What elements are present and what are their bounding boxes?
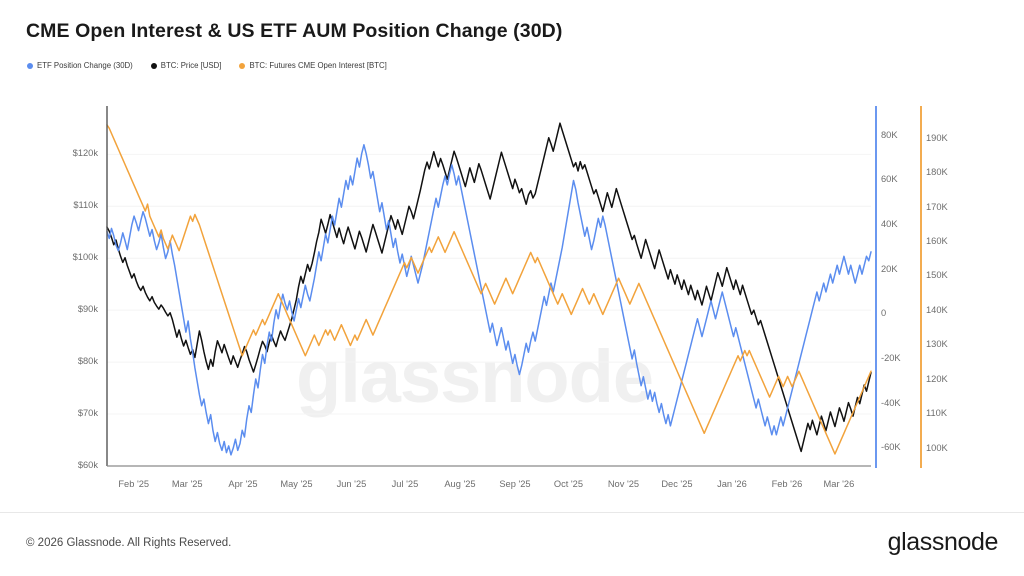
legend-swatch-black bbox=[151, 63, 157, 69]
chart-plot-area[interactable]: glassnode $60k$70k$80k$90k$100k$110k$120… bbox=[0, 96, 1024, 502]
x-tick-2: Apr '25 bbox=[219, 480, 267, 489]
y-tick-etf-2: -20K bbox=[881, 354, 921, 363]
y-tick-etf-4: 20K bbox=[881, 265, 921, 274]
legend-label-etf-position-change: ETF Position Change (30D) bbox=[37, 62, 133, 70]
legend-swatch-blue bbox=[27, 63, 33, 69]
y-tick-cme-5: 150K bbox=[926, 271, 968, 280]
y-tick-cme-4: 140K bbox=[926, 306, 968, 315]
y-tick-cme-3: 130K bbox=[926, 340, 968, 349]
page-title: CME Open Interest & US ETF AUM Position … bbox=[26, 20, 562, 43]
legend-swatch-orange bbox=[239, 63, 245, 69]
chart-page: CME Open Interest & US ETF AUM Position … bbox=[0, 0, 1024, 576]
x-tick-6: Aug '25 bbox=[436, 480, 484, 489]
x-tick-0: Feb '25 bbox=[110, 480, 158, 489]
y-tick-etf-1: -40K bbox=[881, 399, 921, 408]
y-tick-left-0: $60k bbox=[45, 461, 98, 470]
y-tick-cme-1: 110K bbox=[926, 409, 968, 418]
legend-label-btc-price: BTC: Price [USD] bbox=[161, 62, 222, 70]
y-tick-etf-0: -60K bbox=[881, 443, 921, 452]
x-tick-8: Oct '25 bbox=[544, 480, 592, 489]
series-line-0 bbox=[107, 123, 871, 451]
y-tick-etf-6: 60K bbox=[881, 175, 921, 184]
x-tick-13: Mar '26 bbox=[815, 480, 863, 489]
y-tick-left-1: $70k bbox=[45, 409, 98, 418]
legend-item-etf-position-change[interactable]: ETF Position Change (30D) bbox=[27, 62, 133, 70]
x-tick-4: Jun '25 bbox=[327, 480, 375, 489]
x-tick-5: Jul '25 bbox=[381, 480, 429, 489]
y-tick-left-5: $110k bbox=[45, 201, 98, 210]
legend-item-btc-price[interactable]: BTC: Price [USD] bbox=[151, 62, 222, 70]
y-tick-etf-5: 40K bbox=[881, 220, 921, 229]
x-tick-12: Feb '26 bbox=[763, 480, 811, 489]
y-tick-cme-2: 120K bbox=[926, 375, 968, 384]
y-tick-left-6: $120k bbox=[45, 149, 98, 158]
y-tick-cme-8: 180K bbox=[926, 168, 968, 177]
y-tick-cme-9: 190K bbox=[926, 134, 968, 143]
x-tick-3: May '25 bbox=[272, 480, 320, 489]
series-line-1 bbox=[107, 145, 871, 455]
chart-canvas bbox=[0, 96, 1024, 502]
x-tick-7: Sep '25 bbox=[491, 480, 539, 489]
y-tick-etf-7: 80K bbox=[881, 131, 921, 140]
y-tick-cme-0: 100K bbox=[926, 444, 968, 453]
legend-label-cme-open-interest: BTC: Futures CME Open Interest [BTC] bbox=[249, 62, 386, 70]
x-tick-1: Mar '25 bbox=[163, 480, 211, 489]
y-tick-cme-7: 170K bbox=[926, 203, 968, 212]
y-tick-left-3: $90k bbox=[45, 305, 98, 314]
legend-item-cme-open-interest[interactable]: BTC: Futures CME Open Interest [BTC] bbox=[239, 62, 386, 70]
brand-logo-glassnode: glassnode bbox=[888, 528, 998, 557]
y-tick-etf-3: 0 bbox=[881, 309, 921, 318]
y-tick-left-4: $100k bbox=[45, 253, 98, 262]
x-tick-11: Jan '26 bbox=[708, 480, 756, 489]
chart-legend: ETF Position Change (30D) BTC: Price [US… bbox=[27, 62, 387, 70]
x-tick-10: Dec '25 bbox=[653, 480, 701, 489]
y-tick-left-2: $80k bbox=[45, 357, 98, 366]
footer-divider bbox=[0, 512, 1024, 513]
copyright-text: © 2026 Glassnode. All Rights Reserved. bbox=[26, 537, 231, 549]
y-tick-cme-6: 160K bbox=[926, 237, 968, 246]
x-tick-9: Nov '25 bbox=[599, 480, 647, 489]
